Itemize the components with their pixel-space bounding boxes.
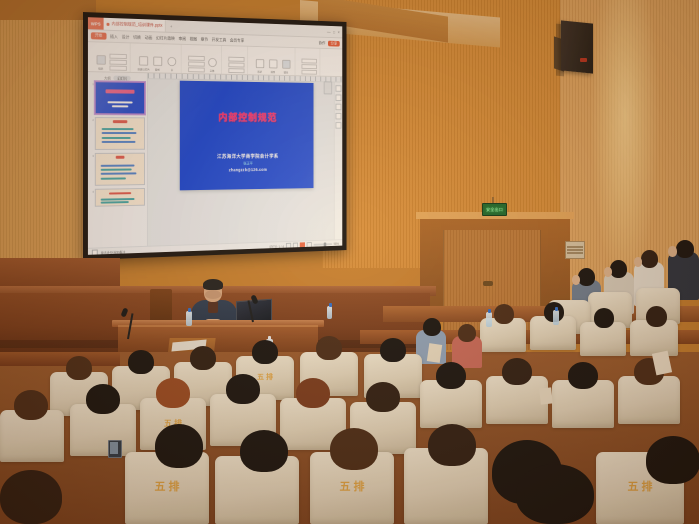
new-tab-button[interactable]: + (166, 20, 176, 32)
tab-home[interactable]: 开始 (91, 32, 106, 39)
attendee-head (594, 308, 614, 328)
thumbnail-number: 4 (90, 189, 94, 194)
layout-label: 版式 (155, 68, 160, 71)
slide-thumbnail-1[interactable] (95, 81, 145, 114)
thumb-sub-bar (108, 101, 133, 103)
attendee-head (366, 382, 400, 412)
font-icon[interactable] (188, 56, 205, 61)
new-slide-button[interactable]: 新建幻灯片 (137, 55, 149, 71)
thumb-title-bar (106, 89, 135, 93)
attendee-head (330, 428, 378, 470)
thumbnail-row[interactable]: 4 (90, 188, 145, 207)
shapes-label: 形状 (258, 70, 263, 73)
smartphone-screen (110, 442, 118, 454)
left-step (0, 352, 120, 366)
seat-row-glyph: 五 排 (154, 478, 179, 494)
attendee-head (568, 362, 598, 389)
numbering-icon[interactable] (228, 62, 244, 67)
slide-title: 内部控制规范 (180, 109, 314, 124)
attendee-head (240, 430, 288, 472)
thumbnail-number: 3 (90, 153, 94, 158)
search-icon[interactable] (302, 59, 317, 64)
minimize-icon[interactable]: — (327, 29, 331, 34)
design-ideas-icon[interactable] (336, 85, 342, 92)
attendee-face (634, 257, 642, 267)
attendee-head (0, 470, 62, 524)
slide-thumbnail-3[interactable] (95, 153, 145, 186)
shapes-button[interactable]: 形状 (254, 58, 265, 73)
attendee-head (502, 358, 532, 385)
zoom-level: 98% (334, 242, 339, 246)
font-size-icon[interactable] (188, 61, 205, 66)
thumbnail-number: 1 (90, 81, 94, 86)
attendee-head (578, 268, 595, 286)
ppt-file-icon (107, 22, 110, 25)
close-icon[interactable]: × (338, 29, 340, 34)
lecture-hall-photo: 安全出口 WPS 内部控制规范_培训课件.pptx + (0, 0, 699, 524)
plaque-line (567, 249, 583, 251)
new-tab-label: + (170, 24, 172, 29)
water-bottle (553, 310, 559, 325)
seat-row-glyph: 五 排 (339, 478, 364, 494)
bold-icon[interactable] (188, 67, 205, 72)
tab-section[interactable]: 章节 (201, 36, 208, 42)
water-bottle (327, 306, 332, 319)
select-icon[interactable] (302, 70, 317, 75)
font-controls[interactable] (188, 56, 205, 73)
collaborate-button[interactable]: 协作 (319, 40, 326, 46)
attendee-head (86, 384, 120, 414)
chart-tool-icon[interactable] (336, 104, 342, 111)
scissors-icon[interactable] (109, 54, 126, 59)
tab-slides[interactable]: 幻灯片 (114, 76, 132, 81)
replace-icon[interactable] (302, 64, 317, 69)
document-tab[interactable]: 内部控制规范_培训课件.pptx (104, 18, 166, 32)
wps-work-area: 大纲 幻灯片 1 2 (88, 72, 342, 248)
attendee-head (610, 260, 627, 278)
thumb-text-line (101, 177, 126, 179)
new-slide-label: 新建幻灯片 (138, 67, 150, 71)
handout-paper (427, 343, 442, 363)
thumb-heading-bar (116, 156, 125, 159)
slide-organization: 江苏海洋大学商学院会计学系 (180, 152, 314, 160)
attendee-head (646, 306, 667, 327)
door-handle-icon[interactable] (483, 281, 493, 286)
tab-slideshow[interactable]: 幻灯片放映 (156, 35, 175, 41)
floating-toolbar[interactable] (324, 81, 332, 94)
format-painter-icon[interactable] (109, 66, 126, 71)
attendee-head (380, 338, 406, 362)
new-slide-icon (139, 56, 148, 65)
tab-review[interactable]: 审阅 (179, 36, 186, 42)
ribbon-group-paragraph (226, 46, 248, 74)
tab-view[interactable]: 视图 (190, 36, 197, 42)
thumb-sub-bar (112, 106, 128, 108)
attendee-head (316, 336, 342, 360)
attendee-head (226, 374, 260, 404)
wps-logo: WPS (88, 17, 104, 29)
tab-developer[interactable]: 开发工具 (212, 37, 227, 43)
bullets-icon[interactable] (228, 57, 244, 62)
attendee-head (128, 350, 154, 374)
font-label: 字体 (210, 69, 215, 72)
ribbon-group-editing (299, 48, 320, 76)
slide-thumbnail-2[interactable] (95, 117, 145, 150)
thumb-text-line (101, 201, 129, 204)
attendee-face (572, 275, 580, 285)
tab-home-label: 开始 (95, 33, 102, 37)
attendee-head (190, 346, 216, 370)
paste-icon (97, 55, 106, 65)
attendee-head (66, 356, 92, 380)
arrange-button[interactable]: 排列 (268, 59, 279, 74)
thumb-heading-bar (109, 192, 131, 195)
clipboard-mini-buttons[interactable] (109, 54, 126, 71)
thumb-text-line (102, 128, 134, 130)
attendee-head (646, 436, 699, 484)
slide-email: zhangzzb@126.com (180, 167, 314, 173)
notes-hint: 单击此处添加备注 (101, 249, 126, 255)
status-right-cluster[interactable]: 幻灯片 1 / 4 98% (269, 241, 339, 249)
tab-insert[interactable]: 插入 (110, 33, 118, 39)
exit-sign: 安全出口 (482, 203, 507, 216)
copy-icon[interactable] (109, 60, 126, 65)
notes-checkbox[interactable] (92, 249, 98, 254)
arrange-label: 排列 (271, 70, 275, 73)
thumbnail-row[interactable]: 1 (90, 81, 145, 114)
paragraph-controls[interactable] (228, 57, 244, 74)
projection-screen-frame: WPS 内部控制规范_培训课件.pptx + — □ × 开始 (83, 12, 346, 260)
shape-tool-icon[interactable] (336, 122, 342, 128)
ribbon-body[interactable]: 粘贴 新建幻灯片 版式 (88, 42, 342, 77)
section-icon (168, 57, 177, 66)
ribbon-group-slides: 新建幻灯片 版式 节 (135, 43, 182, 72)
attendee-head (641, 250, 658, 268)
seat-row-glyph: 五 排 (257, 372, 273, 382)
thumb-heading-bar (113, 121, 127, 124)
attendee-head (428, 424, 476, 466)
thumbnail-number: 2 (90, 117, 94, 122)
thumbnail-row[interactable]: 2 (90, 117, 145, 150)
left-wall (0, 0, 84, 300)
projected-desktop[interactable]: WPS 内部控制规范_培训课件.pptx + — □ × 开始 (88, 17, 342, 255)
presenter-hair (203, 279, 223, 290)
maximize-icon[interactable]: □ (333, 29, 335, 34)
ribbon-right-actions[interactable]: 协作 分享 (319, 40, 340, 46)
font-color-icon (208, 58, 217, 67)
slide-presenter-name: 张正平 (180, 161, 314, 167)
slide-indicator: 幻灯片 1 / 4 (269, 243, 284, 248)
water-bottle (486, 312, 492, 327)
attendee-head (296, 378, 330, 408)
font-group-button[interactable]: 字体 (207, 57, 219, 73)
current-slide[interactable]: 内部控制规范 江苏海洋大学商学院会计学系 张正平 zhangzzb@126.co… (180, 81, 314, 191)
section-button[interactable]: 节 (166, 56, 178, 72)
ribbon-group-font: 字体 (185, 45, 222, 74)
attendee-head (252, 340, 278, 364)
thumbnail-row[interactable]: 3 (90, 153, 145, 186)
share-button[interactable]: 分享 (328, 40, 340, 46)
tab-member[interactable]: 会员专享 (230, 37, 244, 43)
document-tab-label: 内部控制规范_培训课件.pptx (112, 21, 163, 29)
seat-row-glyph: 五 排 (627, 478, 652, 494)
attendee-head (516, 464, 594, 524)
attendee-head (155, 424, 203, 468)
water-bottle (186, 311, 192, 326)
window-controls[interactable]: — □ × (327, 26, 342, 38)
arrange-icon (269, 59, 277, 68)
picture-tool-icon[interactable] (336, 94, 342, 101)
presenter-shirt (208, 301, 218, 313)
fill-label: 填充 (284, 71, 288, 74)
attendee-face (604, 267, 612, 277)
thumb-text-line (101, 173, 137, 175)
plaque-line (567, 246, 583, 248)
slide-thumbnail-4[interactable] (95, 188, 145, 207)
zoom-slider-knob[interactable] (323, 242, 326, 247)
thumb-text-line (101, 198, 135, 201)
plaque-line (567, 252, 583, 254)
layout-icon (153, 57, 162, 66)
layout-button[interactable]: 版式 (152, 56, 164, 72)
sorter-view-icon[interactable] (293, 243, 298, 249)
slideshow-view-icon[interactable] (299, 242, 304, 248)
ribbon-group-drawing: 形状 排列 填充 (252, 47, 296, 75)
attendee-head (423, 318, 441, 336)
editing-controls[interactable] (302, 59, 317, 75)
paste-button[interactable]: 粘贴 (95, 54, 108, 70)
tab-outline[interactable]: 大纲 (104, 75, 111, 80)
thumb-text-line (101, 168, 132, 170)
attendee-head (458, 324, 476, 342)
tab-design[interactable]: 设计 (122, 34, 130, 40)
thumb-text-line (102, 132, 137, 134)
presenter-face-shading (205, 290, 221, 299)
ribbon-group-clipboard: 粘贴 (92, 42, 131, 72)
align-icon[interactable] (228, 68, 244, 73)
attendee-head (676, 240, 694, 258)
thumb-text-line (101, 164, 135, 166)
attendee-face (668, 246, 677, 257)
paste-label: 粘贴 (99, 67, 104, 70)
exit-sign-label: 安全出口 (486, 207, 503, 213)
right-tool-rail[interactable] (334, 82, 342, 239)
text-tool-icon[interactable] (336, 113, 342, 119)
tab-animations[interactable]: 动画 (145, 34, 153, 40)
handout-paper (539, 387, 553, 404)
attendee-head (494, 304, 514, 324)
speaker-brand-badge (580, 58, 587, 62)
wall-plaque (565, 241, 585, 259)
section-label: 节 (171, 68, 173, 71)
reading-view-icon[interactable] (306, 242, 311, 248)
wall-speaker (561, 20, 593, 73)
slide-canvas-area[interactable]: 内部控制规范 江苏海洋大学商学院会计学系 张正平 zhangzzb@126.co… (148, 73, 342, 246)
attendee-head (14, 390, 48, 420)
attendee-head (436, 362, 466, 389)
zoom-slider[interactable] (313, 243, 332, 246)
thumb-text-line (102, 141, 136, 143)
normal-view-icon[interactable] (286, 243, 291, 249)
attendee-head (156, 378, 190, 408)
shapes-icon (256, 59, 264, 68)
fill-button[interactable]: 填充 (281, 59, 292, 74)
slide-thumbnail-panel[interactable]: 大纲 幻灯片 1 2 (88, 72, 148, 248)
tab-transitions[interactable]: 切换 (133, 34, 141, 40)
fill-icon (282, 60, 290, 69)
left-wall-header (0, 0, 96, 20)
wps-suite-name: WPS (91, 21, 101, 26)
thumb-text-line (102, 137, 131, 139)
